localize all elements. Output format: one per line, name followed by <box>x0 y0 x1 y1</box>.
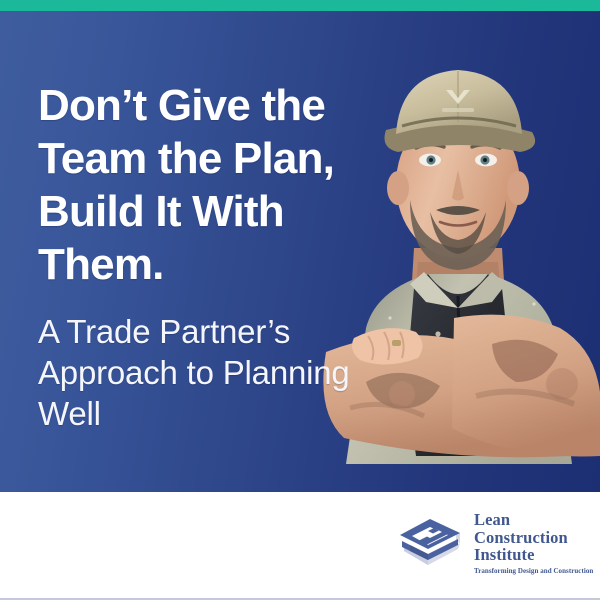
lci-logo-wordmark: Lean Construction Institute Transforming… <box>474 510 593 576</box>
top-accent-bar <box>0 0 600 11</box>
lean-construction-institute-logo: Lean Construction Institute Transforming… <box>398 510 593 576</box>
logo-word-line-3: Institute <box>474 546 593 564</box>
page-title: Don’t Give the Team the Plan, Build It W… <box>38 79 368 291</box>
title-card-canvas: Don’t Give the Team the Plan, Build It W… <box>0 0 600 600</box>
hero-panel: Don’t Give the Team the Plan, Build It W… <box>0 11 600 492</box>
logo-word-line-1: Lean <box>474 511 593 529</box>
logo-word-line-2: Construction <box>474 529 593 547</box>
page-subtitle: A Trade Partner’s Approach to Planning W… <box>38 311 368 434</box>
lci-logo-mark-icon <box>398 515 464 571</box>
logo-tagline: Transforming Design and Construction <box>474 567 593 576</box>
hero-copy: Don’t Give the Team the Plan, Build It W… <box>38 79 368 434</box>
footer-band: Lean Construction Institute Transforming… <box>0 492 600 600</box>
